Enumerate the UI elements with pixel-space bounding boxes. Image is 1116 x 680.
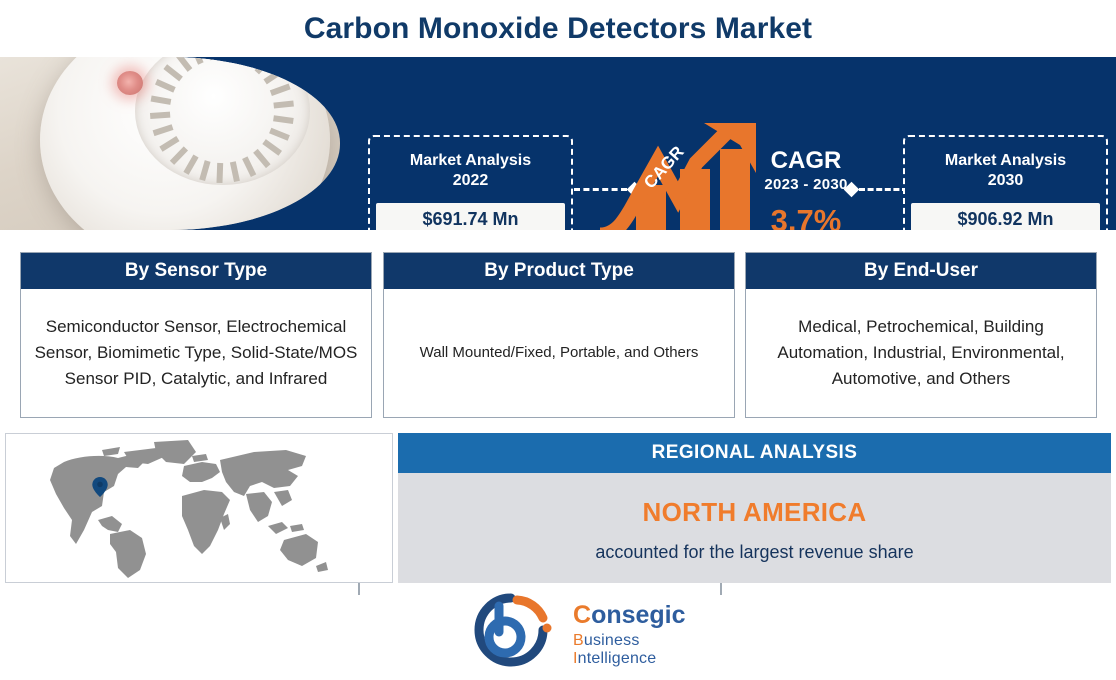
market-analysis-2022-card: Market Analysis 2022 $691.74 Mn [368, 135, 573, 230]
logo-tagline-b: B [573, 632, 584, 649]
cagr-value: 3.7% [752, 203, 860, 230]
market-analysis-2030-value: $906.92 Mn [911, 203, 1100, 230]
detector-housing [40, 57, 330, 230]
regional-text-panel: REGIONAL ANALYSIS NORTH AMERICA accounte… [398, 433, 1111, 583]
segment-items-sensor-type: Semiconductor Sensor, Electrochemical Se… [21, 289, 371, 417]
market-analysis-2030-label-line1: Market Analysis [905, 151, 1106, 171]
market-analysis-2030-card: Market Analysis 2030 $906.92 Mn [903, 135, 1108, 230]
segment-card-sensor-type: By Sensor Type Semiconductor Sensor, Ele… [20, 252, 372, 418]
map-location-pin-icon [90, 477, 110, 497]
consegic-wordmark: Consegic Business Intelligence [573, 600, 695, 668]
market-analysis-2022-label-line1: Market Analysis [370, 151, 571, 171]
segmentation-section: By Sensor Type Semiconductor Sensor, Ele… [0, 252, 1116, 420]
segment-items-product-type: Wall Mounted/Fixed, Portable, and Others [384, 289, 734, 417]
cagr-range: 2023 - 2030 [752, 176, 860, 193]
segment-header-product-type: By Product Type [384, 253, 734, 289]
regional-subtitle: accounted for the largest revenue share [398, 542, 1111, 563]
market-analysis-2022-value: $691.74 Mn [376, 203, 565, 230]
world-map-panel [5, 433, 393, 583]
segment-header-sensor-type: By Sensor Type [21, 253, 371, 289]
logo-name-initial: C [573, 601, 591, 629]
segment-card-end-user: By End-User Medical, Petrochemical, Buil… [745, 252, 1097, 418]
logo-name-rest: onsegic [591, 601, 685, 629]
regional-leading-region: NORTH AMERICA [398, 497, 1111, 528]
page-title: Carbon Monoxide Detectors Market [304, 12, 812, 46]
logo-tagline-usiness: usiness [584, 632, 640, 649]
page-header: Carbon Monoxide Detectors Market [0, 0, 1116, 57]
logo-company-name: Consegic [573, 600, 695, 630]
segment-card-product-type: By Product Type Wall Mounted/Fixed, Port… [383, 252, 735, 418]
world-map-icon [6, 434, 392, 582]
logo-tagline-ntelligence: ntelligence [578, 650, 657, 667]
cagr-summary: CAGR 2023 - 2030 3.7% [752, 147, 860, 230]
segment-items-end-user: Medical, Petrochemical, Building Automat… [746, 289, 1096, 417]
detector-photo [0, 57, 340, 230]
logo-tagline: Business Intelligence [573, 632, 695, 668]
cagr-growth-chart: CAGR [596, 123, 764, 230]
connector-right-dash [859, 188, 908, 191]
market-analysis-2030-label-line2: 2030 [905, 171, 1106, 191]
market-analysis-2022-label-line2: 2022 [370, 171, 571, 191]
regional-analysis-header: REGIONAL ANALYSIS [398, 433, 1111, 473]
consegic-logo: Consegic Business Intelligence [455, 592, 695, 670]
hero-banner: Market Analysis 2022 $691.74 Mn CAGR 202… [0, 57, 1116, 230]
regional-analysis-section: REGIONAL ANALYSIS NORTH AMERICA accounte… [5, 433, 1111, 583]
regional-analysis-body: NORTH AMERICA accounted for the largest … [398, 473, 1111, 583]
cagr-chart-icon: CAGR [596, 123, 764, 230]
cagr-label: CAGR [752, 147, 860, 175]
segment-header-end-user: By End-User [746, 253, 1096, 289]
consegic-mark-icon [455, 592, 567, 668]
detector-vents-icon [40, 57, 330, 230]
